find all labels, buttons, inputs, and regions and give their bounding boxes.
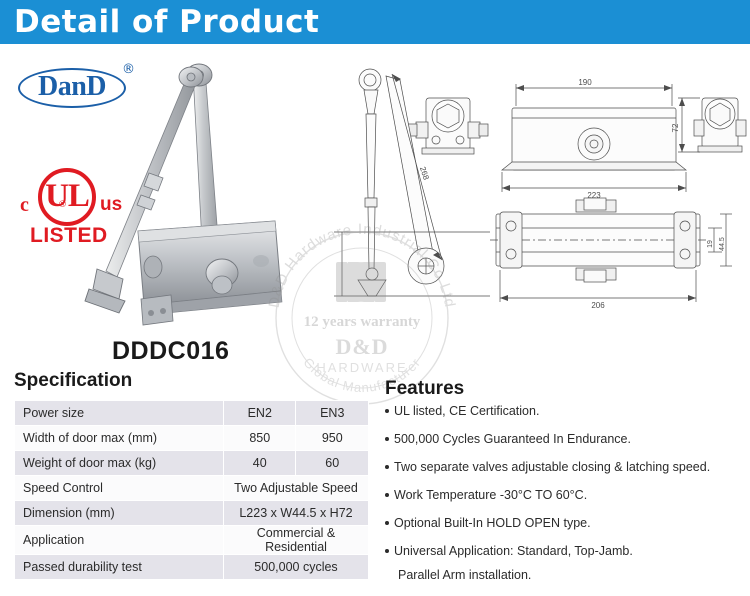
bullet-icon [385, 549, 389, 553]
specification-table-body: Power sizeEN2EN3Width of door max (mm)85… [15, 401, 369, 580]
feature-text: Two separate valves adjustable closing &… [394, 460, 710, 474]
bullet-icon [385, 493, 389, 497]
spec-label-cell: Weight of door max (kg) [15, 451, 224, 476]
feature-item: UL listed, CE Certification. [385, 404, 745, 419]
feature-text: Universal Application: Standard, Top-Jam… [394, 544, 633, 558]
bullet-icon [385, 409, 389, 413]
table-row: Power sizeEN2EN3 [15, 401, 369, 426]
ul-prefix-c: c [20, 194, 29, 217]
spec-label-cell: Power size [15, 401, 224, 426]
spec-value-cell: EN3 [296, 401, 369, 426]
feature-item: Work Temperature -30°C TO 60°C. [385, 488, 745, 503]
table-row: ApplicationCommercial & Residential [15, 526, 369, 555]
spec-value-cell: EN2 [224, 401, 296, 426]
feature-text: UL listed, CE Certification. [394, 404, 539, 418]
technical-drawings: 190 223 72 206 19 44.5 268 [330, 52, 750, 342]
spec-value-cell: 40 [224, 451, 296, 476]
feature-item: Optional Built-In HOLD OPEN type. [385, 516, 745, 531]
spec-label-cell: Dimension (mm) [15, 501, 224, 526]
product-photo [75, 55, 315, 327]
drawing-end-view-right [678, 98, 746, 152]
feature-text: Optional Built-In HOLD OPEN type. [394, 516, 591, 530]
feature-text: Work Temperature -30°C TO 60°C. [394, 488, 587, 502]
dim-label-223: 223 [587, 191, 601, 200]
feature-item: 500,000 Cycles Guaranteed In Endurance. [385, 432, 745, 447]
specification-heading: Specification [14, 370, 132, 392]
spec-value-cell: 950 [296, 426, 369, 451]
page-header-banner: Detail of Product [0, 0, 750, 44]
closer-foot-bracket [85, 269, 125, 313]
spec-label-cell: Speed Control [15, 476, 224, 501]
dim-label-190: 190 [578, 78, 592, 87]
drawing-front-view [502, 84, 686, 192]
bullet-icon [385, 521, 389, 525]
dim-label-206: 206 [591, 301, 605, 310]
spec-value-cell: Commercial & Residential [224, 526, 369, 555]
feature-item: Universal Application: Standard, Top-Jam… [385, 544, 745, 583]
spec-value-cell: Two Adjustable Speed [224, 476, 369, 501]
spec-value-cell: L223 x W44.5 x H72 [224, 501, 369, 526]
dim-label-44-5: 44.5 [719, 237, 726, 251]
page-title: Detail of Product [14, 4, 319, 40]
specification-table: Power sizeEN2EN3Width of door max (mm)85… [14, 400, 369, 580]
bullet-icon [385, 437, 389, 441]
spec-label-cell: Width of door max (mm) [15, 426, 224, 451]
ul-registered-icon: ® [58, 200, 67, 210]
bullet-icon [385, 465, 389, 469]
drawing-end-view-left [408, 98, 488, 154]
spec-value-cell: 850 [224, 426, 296, 451]
table-row: Width of door max (mm)850950 [15, 426, 369, 451]
closer-body [138, 221, 282, 325]
table-row: Speed ControlTwo Adjustable Speed [15, 476, 369, 501]
drawing-plan-view [490, 198, 732, 302]
dim-label-72: 72 [671, 123, 680, 132]
feature-text: 500,000 Cycles Guaranteed In Endurance. [394, 432, 631, 446]
dim-label-19: 19 [707, 240, 714, 248]
table-row: Dimension (mm)L223 x W44.5 x H72 [15, 501, 369, 526]
product-model-name: DDDC016 [112, 337, 229, 366]
features-heading: Features [385, 378, 464, 400]
feature-item: Two separate valves adjustable closing &… [385, 460, 745, 475]
table-row: Weight of door max (kg)4060 [15, 451, 369, 476]
spec-label-cell: Application [15, 526, 224, 555]
spec-value-cell: 60 [296, 451, 369, 476]
svg-text:HARDWARE: HARDWARE [316, 360, 407, 375]
features-list: UL listed, CE Certification.500,000 Cycl… [385, 404, 745, 596]
